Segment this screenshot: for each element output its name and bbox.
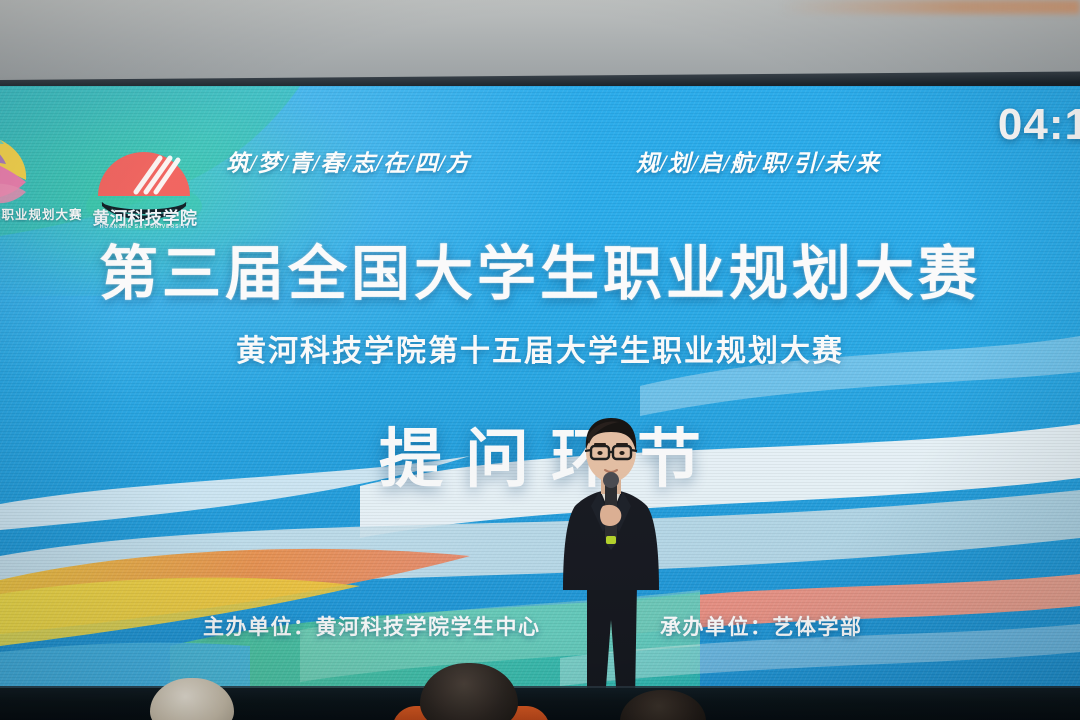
countdown-timer: 04:1 <box>998 100 1080 150</box>
credit-organizer: 承办单位：艺体学部 <box>660 611 863 641</box>
credit-host: 主办单位：黄河科技学院学生中心 <box>203 611 541 641</box>
section-title: 提问环节 <box>0 408 1080 500</box>
sub-title: 黄河科技学院第十五届大学生职业规划大赛 <box>0 326 1080 370</box>
main-title: 第三届全国大学生职业规划大赛 <box>0 226 1080 311</box>
speaker-with-microphone <box>541 414 681 700</box>
slogan-left: 筑/梦/青/春/志/在/四/方 <box>226 144 470 178</box>
slogan-right: 规/划/启/航/职/引/未/来 <box>636 144 880 178</box>
led-backdrop-screen: 生职业规划大赛 黄河科技学院 HUANGHE S&T UNIVERSITY 04… <box>0 86 1080 690</box>
competition-logo-caption: 生职业规划大赛 <box>0 204 96 223</box>
wall-warm-light <box>780 0 1080 14</box>
screenshot-root: 生职业规划大赛 黄河科技学院 HUANGHE S&T UNIVERSITY 04… <box>0 0 1080 720</box>
